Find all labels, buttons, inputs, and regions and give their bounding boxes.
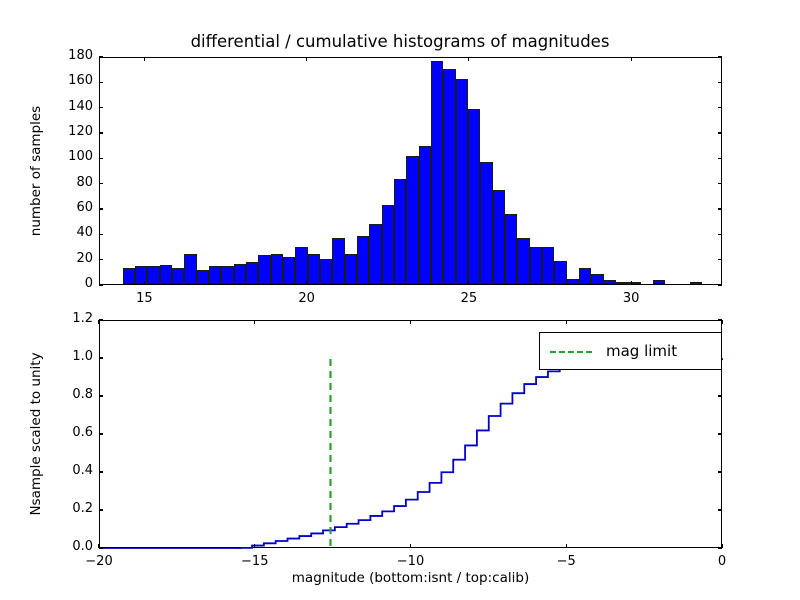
top-y-tick-label: 80 [25, 175, 93, 190]
top-y-tick [99, 183, 103, 184]
bottom-x-tick [254, 544, 255, 548]
top-x-tick-label: 15 [114, 291, 174, 306]
histogram-bar [468, 109, 480, 284]
histogram-bar [505, 214, 517, 284]
histogram-bar [345, 254, 357, 284]
bottom-x-tick-top [410, 320, 411, 324]
bottom-y-tick [99, 509, 103, 510]
top-x-tick [144, 281, 145, 285]
bottom-y-tick-label: 1.0 [25, 349, 93, 364]
bottom-y-tick-right [718, 509, 722, 510]
histogram-bar [308, 254, 320, 284]
bottom-y-tick-label: 0.6 [25, 425, 93, 440]
histogram-bar [147, 266, 159, 284]
bottom-y-tick-label: 0.8 [25, 387, 93, 402]
histogram-bar [382, 205, 394, 284]
histogram-bar [283, 257, 295, 284]
histogram-bar [554, 261, 566, 284]
bottom-y-tick [99, 357, 103, 358]
top-y-tick-label: 140 [25, 99, 93, 114]
histogram-bar [197, 270, 209, 284]
bottom-y-tick [99, 471, 103, 472]
bottom-y-tick-label: 0.0 [25, 539, 93, 554]
bottom-x-tick [410, 544, 411, 548]
histogram-plot-area [100, 58, 721, 284]
histogram-bar [542, 247, 554, 284]
histogram-bar [369, 224, 381, 284]
top-y-tick [99, 208, 103, 209]
top-y-tick-right [718, 158, 722, 159]
top-y-tick-label: 100 [25, 149, 93, 164]
bottom-y-tick-label: 1.2 [25, 311, 93, 326]
histogram-bar [480, 162, 492, 284]
figure-title: differential / cumulative histograms of … [0, 32, 800, 51]
bottom-y-tick-label: 0.4 [25, 463, 93, 478]
top-y-tick-label: 120 [25, 124, 93, 139]
bottom-x-axis-label: magnitude (bottom:isnt / top:calib) [99, 570, 722, 586]
histogram-bar [246, 262, 258, 284]
histogram-bar [690, 282, 702, 284]
top-y-tick-label: 0 [25, 276, 93, 291]
histogram-bar [295, 247, 307, 284]
top-y-tick [99, 284, 103, 285]
bottom-y-tick-right [718, 471, 722, 472]
histogram-bar [530, 247, 542, 284]
top-y-tick-label: 160 [25, 73, 93, 88]
histogram-bar [653, 280, 665, 284]
histogram-bar [604, 280, 616, 284]
top-y-tick-right [718, 132, 722, 133]
top-x-tick-top [631, 57, 632, 61]
histogram-bar [431, 61, 443, 284]
top-x-tick [306, 281, 307, 285]
top-x-tick [631, 281, 632, 285]
top-y-tick-right [718, 183, 722, 184]
bottom-x-tick-top [721, 320, 722, 324]
bottom-y-tick-right [718, 395, 722, 396]
top-x-tick-label: 30 [601, 291, 661, 306]
histogram-bar [419, 146, 431, 284]
top-x-tick-top [468, 57, 469, 61]
top-y-tick-label: 40 [25, 225, 93, 240]
histogram-bar [443, 69, 455, 284]
legend[interactable]: mag limit [539, 332, 722, 370]
cumulative-curve [100, 359, 723, 549]
top-x-tick-label: 20 [277, 291, 337, 306]
histogram-bar [160, 265, 172, 284]
bottom-y-tick [99, 547, 103, 548]
top-y-tick-right [718, 259, 722, 260]
histogram-bar [172, 268, 184, 284]
histogram-bar [234, 264, 246, 284]
bottom-y-tick-label: 0.2 [25, 501, 93, 516]
histogram-bar [394, 179, 406, 284]
top-x-tick-top [144, 57, 145, 61]
mag-limit-dashed-icon [550, 344, 592, 358]
histogram-bar [579, 268, 591, 284]
bottom-x-tick [566, 544, 567, 548]
top-y-tick [99, 56, 103, 57]
histogram-bar [591, 274, 603, 284]
top-y-tick [99, 107, 103, 108]
bottom-y-tick [99, 433, 103, 434]
top-y-tick-right [718, 82, 722, 83]
histogram-bar [271, 254, 283, 284]
bottom-x-tick-top [566, 320, 567, 324]
top-y-tick [99, 234, 103, 235]
top-y-tick-right [718, 284, 722, 285]
histogram-bar [135, 266, 147, 284]
top-y-tick [99, 132, 103, 133]
bottom-y-tick [99, 395, 103, 396]
top-y-tick-right [718, 234, 722, 235]
histogram-bar [456, 79, 468, 284]
histogram-bar [517, 238, 529, 284]
histogram-bar [258, 255, 270, 284]
histogram-bar [320, 259, 332, 284]
bottom-x-tick-label: −20 [69, 554, 129, 569]
histogram-bar [567, 279, 579, 284]
top-y-tick-label: 180 [25, 48, 93, 63]
bottom-x-tick-label: −15 [225, 554, 285, 569]
bottom-x-tick-label: 0 [692, 554, 752, 569]
bottom-x-tick-label: −5 [536, 554, 596, 569]
bottom-x-tick-label: −10 [381, 554, 441, 569]
top-y-tick-right [718, 208, 722, 209]
top-y-tick [99, 82, 103, 83]
top-y-tick-right [718, 107, 722, 108]
histogram-bar [221, 266, 233, 284]
top-y-tick-right [718, 56, 722, 57]
bottom-x-tick-top [254, 320, 255, 324]
top-y-tick-label: 60 [25, 200, 93, 215]
histogram-bar [184, 254, 196, 284]
figure-canvas: differential / cumulative histograms of … [0, 0, 800, 600]
histogram-bar [357, 236, 369, 284]
bottom-x-tick-top [98, 320, 99, 324]
top-y-tick [99, 158, 103, 159]
top-x-tick-top [306, 57, 307, 61]
legend-label-mag-limit: mag limit [606, 342, 677, 360]
histogram-bar [616, 282, 628, 284]
histogram-bar [123, 268, 135, 284]
histogram-bar [493, 190, 505, 284]
bottom-x-tick [721, 544, 722, 548]
histogram-bar [209, 266, 221, 284]
differential-histogram-axes [99, 57, 722, 285]
histogram-bar [332, 238, 344, 284]
top-x-tick [468, 281, 469, 285]
top-y-tick-label: 20 [25, 251, 93, 266]
bottom-y-tick [99, 319, 103, 320]
histogram-bar [406, 156, 418, 284]
bottom-x-tick [98, 544, 99, 548]
bottom-y-tick-right [718, 433, 722, 434]
top-x-tick-label: 25 [439, 291, 499, 306]
top-y-tick [99, 259, 103, 260]
